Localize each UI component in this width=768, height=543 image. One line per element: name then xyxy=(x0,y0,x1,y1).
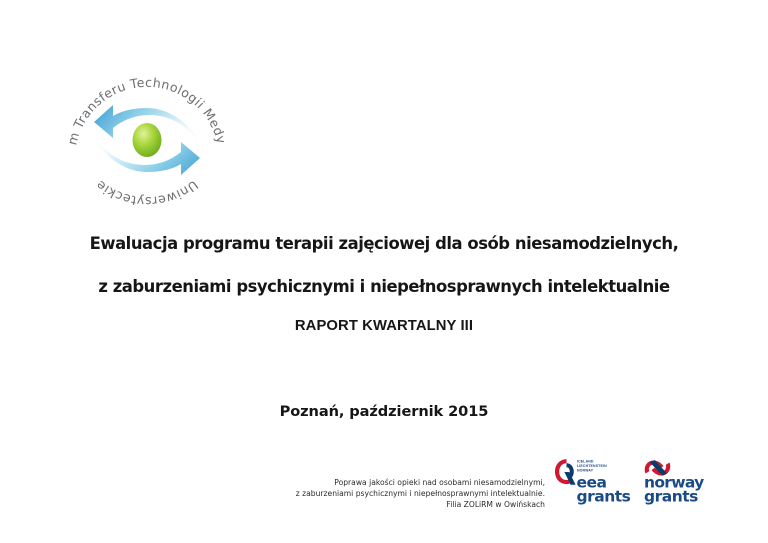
document-page: Centrum Transferu Technologii Medycznych… xyxy=(0,0,768,543)
grants-logos-graphic: ICELAND LIECHTENSTEIN NORWAY eea grants … xyxy=(553,455,723,513)
report-subtitle: RAPORT KWARTALNY III xyxy=(0,318,768,334)
donor-country-liechtenstein: LIECHTENSTEIN xyxy=(577,464,607,468)
logo-graphic: Centrum Transferu Technologii Medycznych… xyxy=(57,50,237,230)
donor-country-norway: NORWAY xyxy=(577,469,594,473)
institution-logo: Centrum Transferu Technologii Medycznych… xyxy=(57,50,237,230)
eea-grants-logo: ICELAND LIECHTENSTEIN NORWAY eea grants xyxy=(555,459,631,505)
project-description-line-3: Filia ZOLiRM w Owińskach xyxy=(190,500,545,511)
project-description: Poprawa jakości opieki nad osobami niesa… xyxy=(190,478,545,510)
grants-logos: ICELAND LIECHTENSTEIN NORWAY eea grants … xyxy=(553,455,723,513)
logo-ring-text-bottom: Uniwersyteckie xyxy=(93,178,201,210)
norway-grants-logo: norway grants xyxy=(644,460,704,506)
norway-grants-word-grants: grants xyxy=(644,488,698,506)
publication-date: Poznań, październik 2015 xyxy=(0,403,768,420)
page-title-line-2: z zaburzeniami psychicznymi i niepełnosp… xyxy=(0,279,768,295)
eea-grants-mark-icon xyxy=(555,459,576,485)
eea-grants-donor-countries: ICELAND LIECHTENSTEIN NORWAY xyxy=(577,460,607,473)
logo-green-sphere xyxy=(133,123,162,157)
project-description-line-1: Poprawa jakości opieki nad osobami niesa… xyxy=(190,478,545,489)
project-description-line-2: z zaburzeniami psychicznymi i niepełnosp… xyxy=(190,489,545,500)
donor-country-iceland: ICELAND xyxy=(577,460,594,464)
page-title: Ewaluacja programu terapii zajęciowej dl… xyxy=(0,236,768,296)
eea-grants-word-grants: grants xyxy=(577,488,631,506)
page-title-line-1: Ewaluacja programu terapii zajęciowej dl… xyxy=(0,236,768,252)
